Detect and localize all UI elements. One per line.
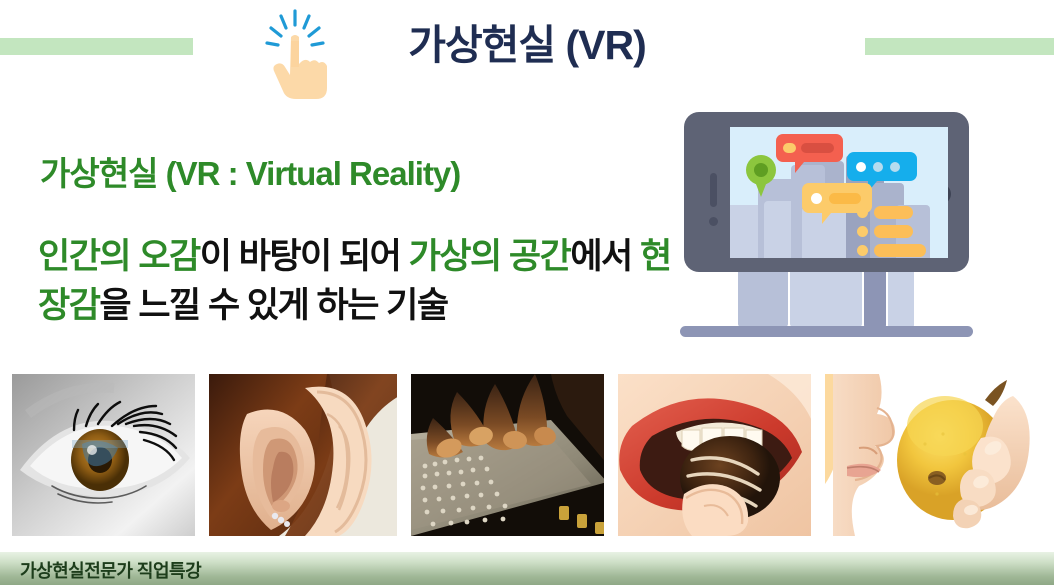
list-bullet-3 — [857, 245, 868, 256]
page-title: 가상현실 (VR) — [0, 17, 1054, 73]
tablet-frame — [684, 112, 969, 272]
building-below-right — [888, 265, 914, 327]
photo-touch-braille — [411, 374, 604, 536]
paragraph-segment-3: 가상의 공간 — [409, 237, 571, 276]
blue-chat-bubble — [847, 152, 917, 181]
slide-root: 가상현실 (VR) 가상현실 (VR : Virtual Reality) 인간… — [0, 0, 1054, 585]
list-bullet-1 — [857, 207, 868, 218]
tablet-screen[interactable] — [730, 127, 948, 258]
list-bullet-2 — [857, 226, 868, 237]
five-senses-photo-strip — [12, 374, 1042, 536]
photo-sight-eye — [12, 374, 195, 536]
paragraph-segment-4: 에서 — [570, 237, 640, 276]
red-chat-bubble — [776, 134, 843, 162]
list-bar-1 — [874, 206, 913, 219]
photo-smell-pear — [825, 374, 1042, 536]
paragraph-segment-2: 이 바탕이 되어 — [200, 237, 409, 276]
list-bar-3 — [874, 244, 926, 257]
definition-paragraph: 인간의 오감이 바탕이 되어 가상의 공간에서 현장감을 느낄 수 있게 하는 … — [38, 232, 678, 330]
paragraph-segment-6: 을 느낄 수 있게 하는 기술 — [99, 286, 447, 325]
photo-taste-chocolate — [618, 374, 811, 536]
list-bar-2 — [874, 225, 913, 238]
tablet-stand-base — [680, 326, 973, 337]
paragraph-segment-1: 인간의 오감 — [38, 237, 200, 276]
photo-hearing-ear — [209, 374, 396, 536]
lead-heading: 가상현실 (VR : Virtual Reality) — [40, 147, 460, 195]
tablet-camera-icon — [709, 217, 718, 226]
map-pin-icon — [744, 155, 778, 203]
footer-bar: 가상현실전문가 직업특강 — [0, 552, 1054, 585]
tablet-speaker — [710, 173, 717, 207]
footer-label: 가상현실전문가 직업특강 — [20, 557, 201, 583]
ar-tablet-illustration — [672, 108, 982, 343]
